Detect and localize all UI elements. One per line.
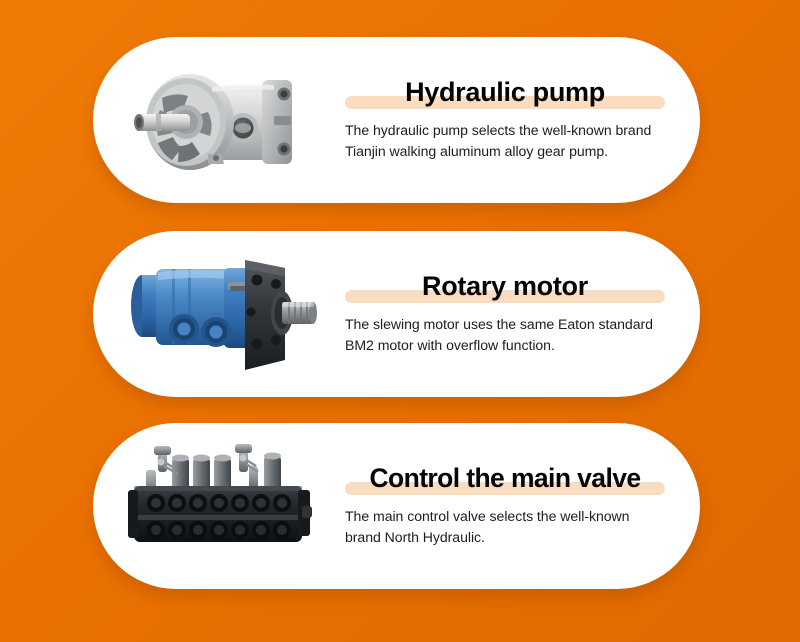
card-title: Hydraulic pump [345,78,665,109]
feature-card-control-main-valve[interactable]: Control the main valve The main control … [93,423,700,589]
card-description: The hydraulic pump selects the well-know… [345,120,665,162]
card-title: Rotary motor [345,272,665,303]
hydraulic-gear-pump-photo [112,50,327,190]
feature-card-stage: Hydraulic pump The hydraulic pump select… [0,0,800,642]
card-heading-block: Rotary motor [345,272,665,303]
rotary-orbital-motor-photo [112,244,327,384]
card-description: The slewing motor uses the same Eaton st… [345,314,665,356]
card-heading-block: Control the main valve [345,464,665,495]
feature-card-rotary-motor[interactable]: Rotary motor The slewing motor uses the … [93,231,700,397]
card-text-container: Control the main valve The main control … [345,423,700,589]
card-image-container [93,37,345,203]
control-main-valve-photo [112,436,327,576]
card-heading-block: Hydraulic pump [345,78,665,109]
card-description: The main control valve selects the well-… [345,506,665,548]
card-text-container: Rotary motor The slewing motor uses the … [345,231,700,397]
card-title: Control the main valve [345,464,665,495]
feature-card-hydraulic-pump[interactable]: Hydraulic pump The hydraulic pump select… [93,37,700,203]
card-image-container [93,423,345,589]
card-image-container [93,231,345,397]
card-text-container: Hydraulic pump The hydraulic pump select… [345,37,700,203]
